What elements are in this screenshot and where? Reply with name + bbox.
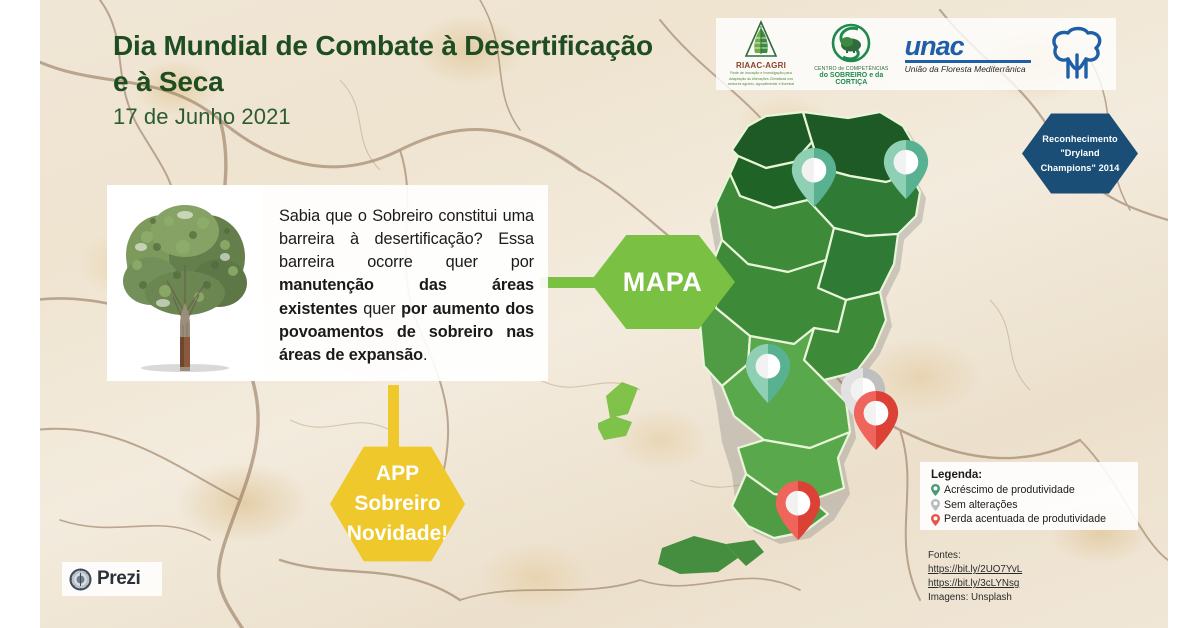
- legend-item-label: Sem alterações: [944, 498, 1018, 513]
- page-title: Dia Mundial de Combate à Desertificação …: [113, 28, 713, 100]
- poster-canvas: Dia Mundial de Combate à Desertificação …: [0, 0, 1200, 628]
- unac-logo: unac União da Floresta Mediterrânica: [905, 34, 1035, 74]
- app-line-2: Sobreiro: [354, 489, 440, 519]
- unac-rule: [905, 60, 1031, 63]
- riaac-logo-subtitle: Rede de Inovação e Investigação para Ada…: [724, 71, 798, 87]
- legend-item: Acréscimo de produtividade: [931, 483, 1130, 498]
- info-callout: Sabia que o Sobreiro constitui uma barre…: [263, 185, 548, 381]
- app-line-1: APP: [376, 459, 419, 489]
- app-line-3: Novidade!: [347, 519, 449, 549]
- legend-list: Acréscimo de produtividade Sem alteraçõe…: [931, 483, 1130, 527]
- event-date: 17 de Junho 2021: [113, 104, 291, 130]
- source-link-2[interactable]: https://bit.ly/3cLYNsg: [928, 577, 1022, 591]
- map-pin-perda[interactable]: [854, 391, 898, 450]
- legend-item-label: Perda acentuada de produtividade: [944, 512, 1106, 527]
- riaac-mark-icon: [743, 20, 779, 60]
- logo-band: RIAAC-AGRI Rede de Inovação e Investigaç…: [716, 18, 1116, 90]
- callout-seg-1: Sabia que o Sobreiro constitui uma barre…: [279, 207, 534, 271]
- callout-seg-5: .: [423, 346, 427, 364]
- unac-tagline: União da Floresta Mediterrânica: [905, 64, 1026, 74]
- prezi-mark-icon: [69, 568, 92, 591]
- connector-to-app: [388, 385, 399, 457]
- callout-text: Sabia que o Sobreiro constitui uma barre…: [279, 205, 534, 367]
- prezi-label: Prezi: [97, 568, 140, 590]
- title-line-2: e à Seca: [113, 64, 713, 100]
- centro-competencias-logo: CENTRO de COMPETÊNCIAS do SOBREIRO e da …: [805, 22, 897, 86]
- cork-oak-circle-icon: [828, 22, 874, 66]
- mapa-label: MAPA: [623, 267, 703, 298]
- map-pin-icon: [931, 484, 940, 496]
- tree-mark-logo: [1042, 25, 1108, 83]
- source-link-1[interactable]: https://bit.ly/2UO7YvL: [928, 563, 1022, 577]
- unac-wordmark: unac: [905, 34, 964, 58]
- callout-seg-3: quer: [358, 300, 401, 318]
- cork-oak-tree-photo: [107, 185, 263, 381]
- legend-title: Legenda:: [931, 469, 1130, 481]
- riaac-agri-logo: RIAAC-AGRI Rede de Inovação e Investigaç…: [724, 20, 798, 87]
- ccsc-logo-line2: do SOBREIRO e da CORTIÇA: [805, 72, 897, 86]
- title-line-1: Dia Mundial de Combate à Desertificação: [113, 28, 713, 64]
- map-legend: Legenda: Acréscimo de produtividade Sem …: [920, 462, 1138, 530]
- legend-item-label: Acréscimo de produtividade: [944, 483, 1075, 498]
- sources-label: Fontes:: [928, 549, 1022, 563]
- legend-item: Perda acentuada de produtividade: [931, 512, 1130, 527]
- sources-images: Imagens: Unsplash: [928, 591, 1022, 605]
- sources-block: Fontes: https://bit.ly/2UO7YvL https://b…: [928, 549, 1022, 605]
- map-pin-icon: [931, 514, 940, 526]
- map-pin-icon: [931, 499, 940, 511]
- riaac-logo-text: RIAAC-AGRI: [736, 61, 786, 70]
- prezi-logo[interactable]: Prezi: [62, 562, 162, 596]
- legend-item: Sem alterações: [931, 498, 1130, 513]
- stylized-tree-icon: [1044, 25, 1106, 83]
